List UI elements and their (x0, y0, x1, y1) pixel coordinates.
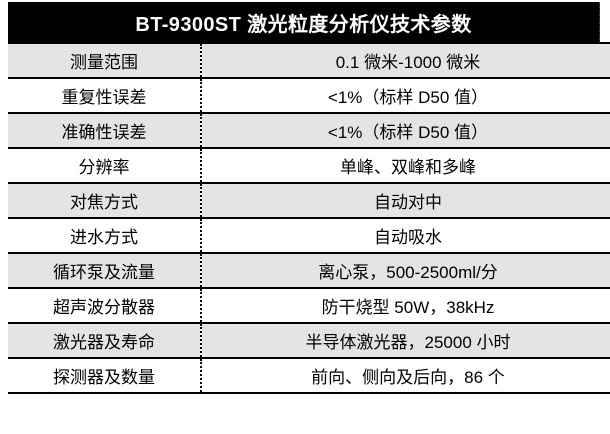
spec-label: 测量范围 (8, 43, 201, 78)
table-row: 分辨率 单峰、双峰和多峰 (8, 148, 610, 183)
spec-label: 分辨率 (8, 148, 201, 183)
page-title: BT-9300ST 激光粒度分析仪技术参数 (135, 8, 471, 37)
spec-value: 0.1 微米-1000 微米 (201, 43, 610, 78)
table-row: 循环泵及流量 离心泵，500-2500ml/分 (8, 253, 610, 288)
table-row: 准确性误差 <1%（标样 D50 值） (8, 113, 610, 148)
spec-label: 进水方式 (8, 218, 201, 253)
spec-value: 自动吸水 (201, 218, 610, 253)
spec-value: 防干烧型 50W，38kHz (201, 288, 610, 323)
spec-value: 自动对中 (201, 183, 610, 218)
table-row: 测量范围 0.1 微米-1000 微米 (8, 43, 610, 78)
spec-label: 准确性误差 (8, 113, 201, 148)
table-row: 探测器及数量 前向、侧向及后向，86 个 (8, 358, 610, 393)
table-row: 重复性误差 <1%（标样 D50 值） (8, 78, 610, 113)
spec-label: 对焦方式 (8, 183, 201, 218)
specification-table: 测量范围 0.1 微米-1000 微米 重复性误差 <1%（标样 D50 值） … (8, 42, 610, 394)
spec-label: 超声波分散器 (8, 288, 201, 323)
table-body: 测量范围 0.1 微米-1000 微米 重复性误差 <1%（标样 D50 值） … (8, 43, 610, 393)
spec-value: <1%（标样 D50 值） (201, 113, 610, 148)
table-row: 进水方式 自动吸水 (8, 218, 610, 253)
spec-label: 循环泵及流量 (8, 253, 201, 288)
table-row: 激光器及寿命 半导体激光器，25000 小时 (8, 323, 610, 358)
table-title-bar: BT-9300ST 激光粒度分析仪技术参数 (8, 2, 600, 42)
spec-value: 前向、侧向及后向，86 个 (201, 358, 610, 393)
table-row: 超声波分散器 防干烧型 50W，38kHz (8, 288, 610, 323)
spec-value: <1%（标样 D50 值） (201, 78, 610, 113)
spec-label: 探测器及数量 (8, 358, 201, 393)
specification-sheet: BT-9300ST 激光粒度分析仪技术参数 测量范围 0.1 微米-1000 微… (8, 2, 600, 394)
spec-value: 半导体激光器，25000 小时 (201, 323, 610, 358)
table-row: 对焦方式 自动对中 (8, 183, 610, 218)
spec-label: 激光器及寿命 (8, 323, 201, 358)
spec-label: 重复性误差 (8, 78, 201, 113)
spec-value: 单峰、双峰和多峰 (201, 148, 610, 183)
spec-value: 离心泵，500-2500ml/分 (201, 253, 610, 288)
